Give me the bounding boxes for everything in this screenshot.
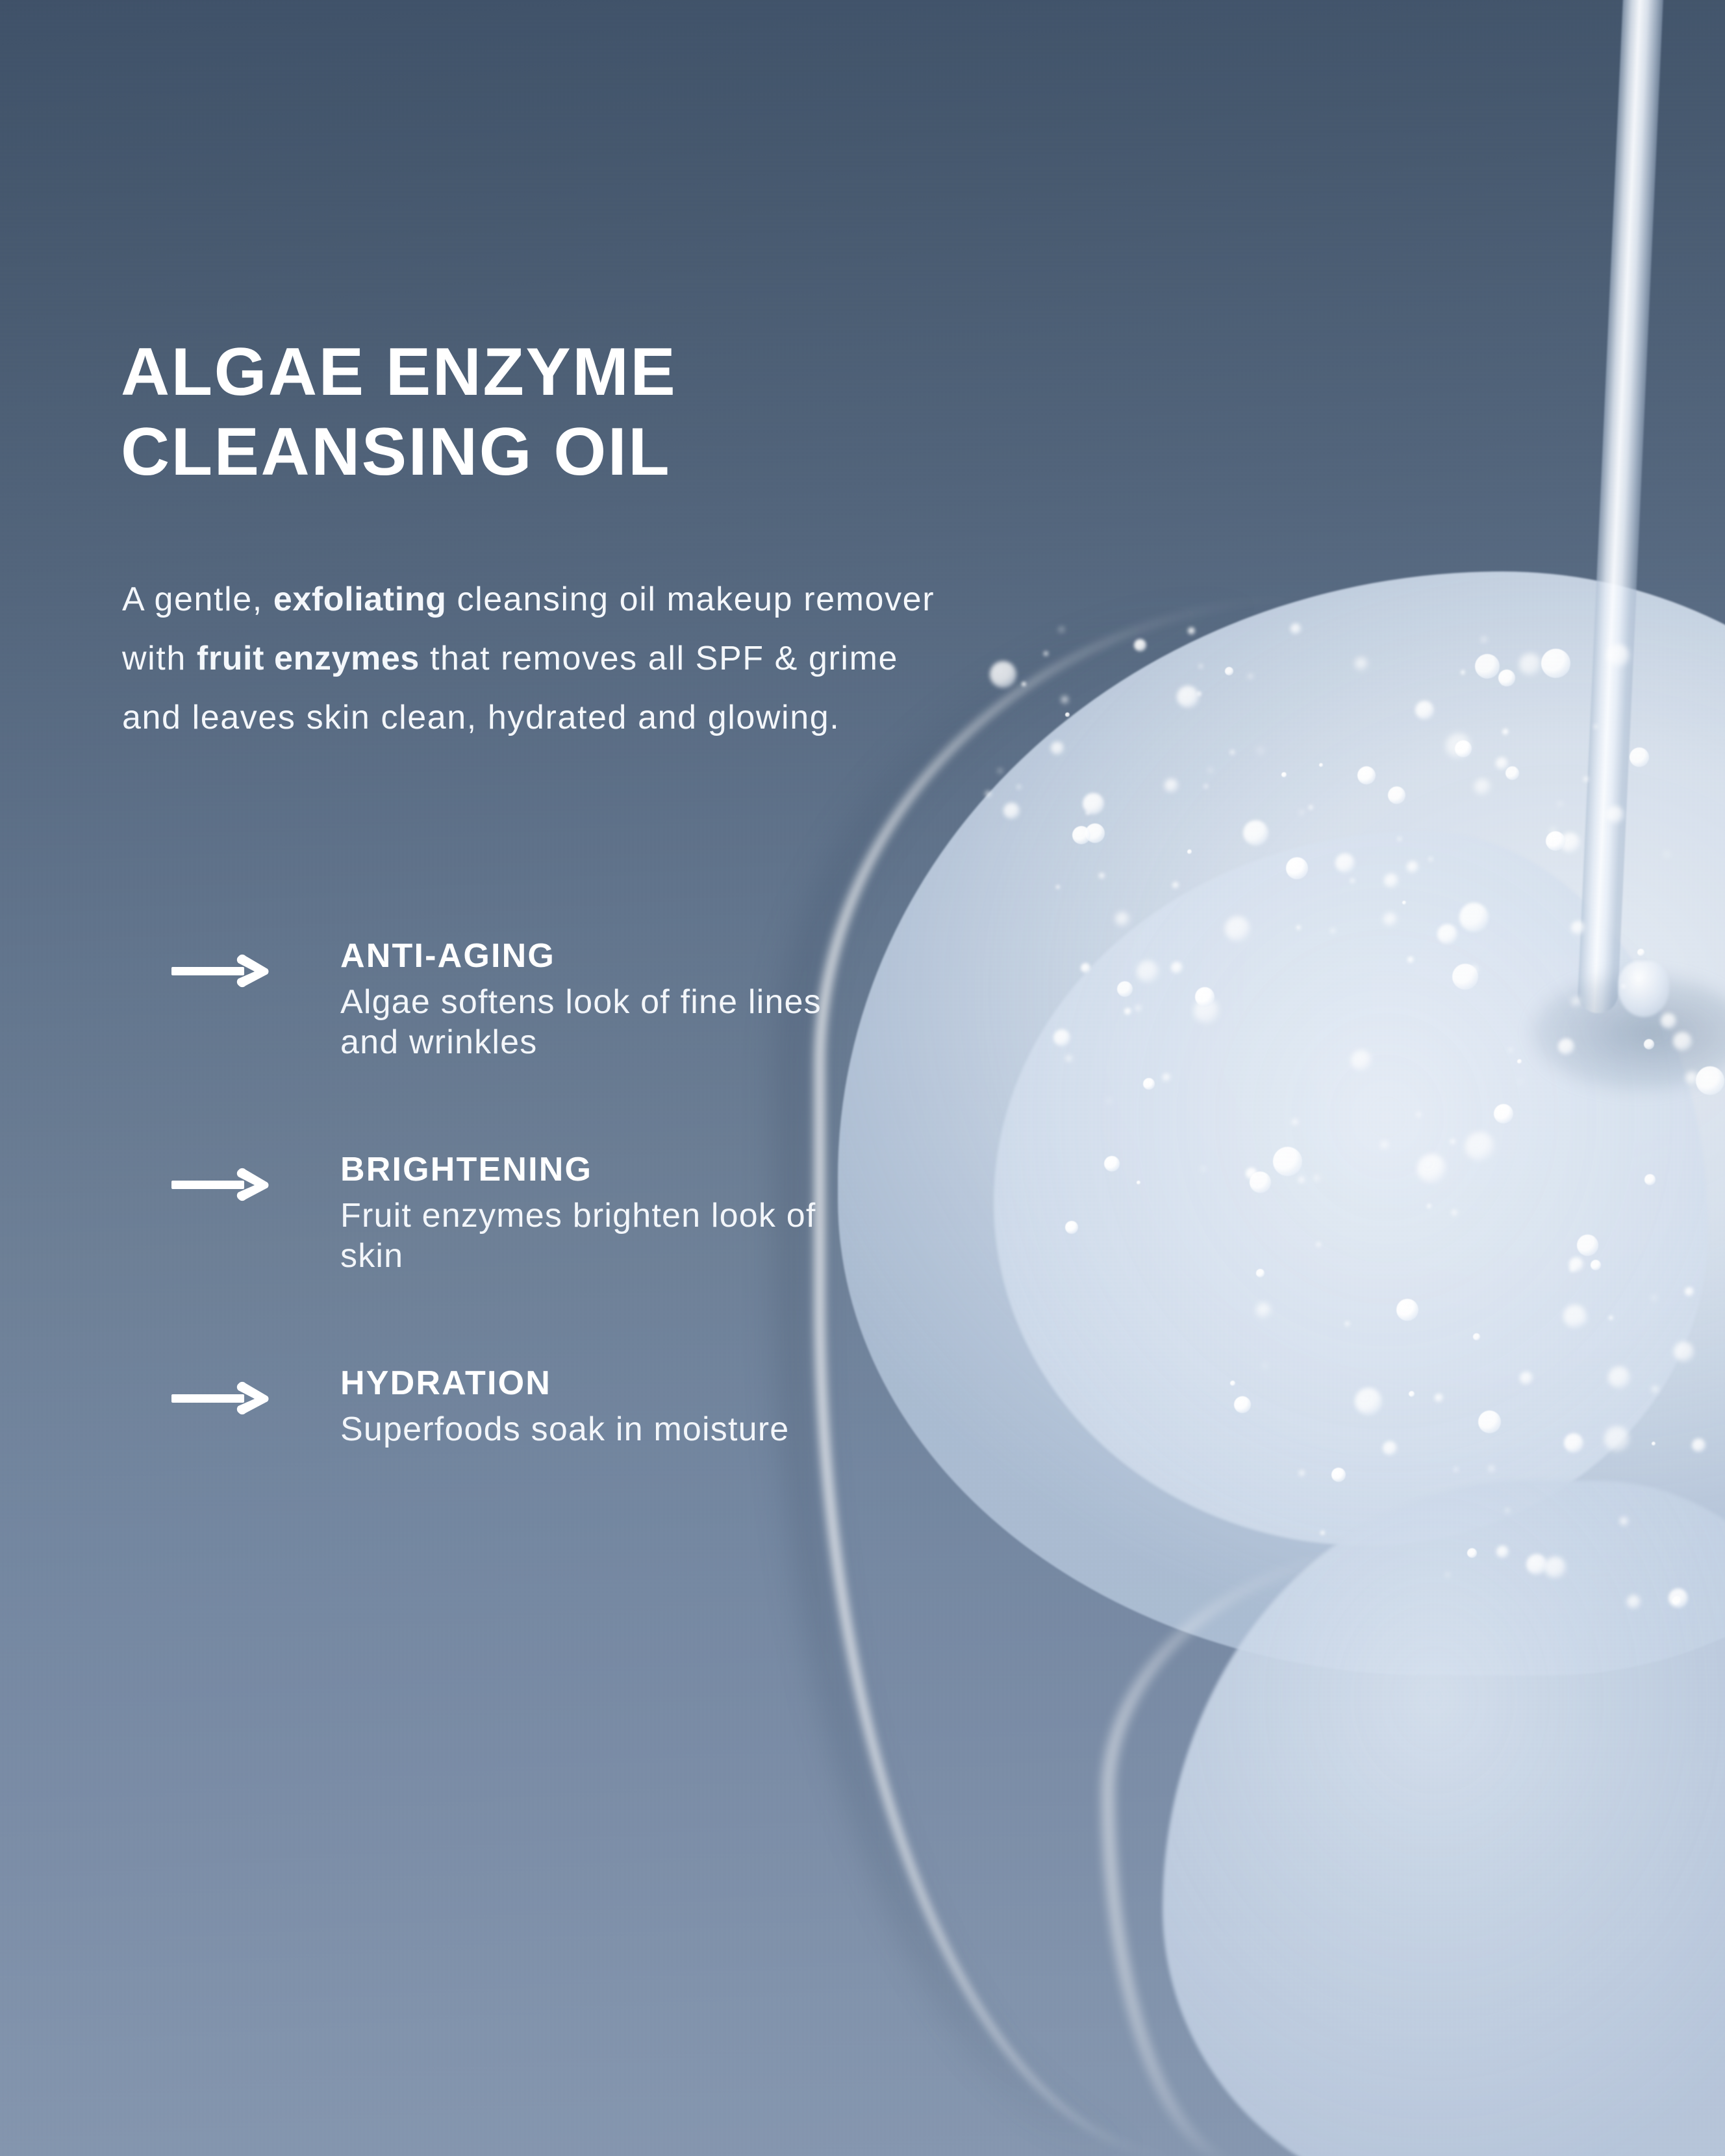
bubble xyxy=(1407,957,1414,963)
bubble xyxy=(1331,929,1335,933)
bubble xyxy=(1505,1509,1509,1512)
product-description: A gentle, exfoliating cleansing oil make… xyxy=(122,570,960,747)
bubble xyxy=(1383,912,1397,926)
benefit-title: HYDRATION xyxy=(340,1366,951,1400)
bubble xyxy=(1692,1438,1706,1452)
bubble xyxy=(1563,1305,1587,1328)
bubble xyxy=(1437,924,1457,944)
bubble xyxy=(1085,823,1105,843)
bubble xyxy=(1429,857,1433,861)
bubble xyxy=(1381,1141,1389,1149)
bubble xyxy=(1498,670,1515,686)
bubble xyxy=(1309,805,1313,810)
bubble xyxy=(1099,873,1105,879)
bubble xyxy=(1469,966,1478,975)
bubble xyxy=(1204,784,1208,788)
bubble xyxy=(1104,1156,1120,1172)
benefit-description: Superfoods soak in moisture xyxy=(340,1409,834,1449)
bubble xyxy=(1452,1210,1457,1216)
bubble xyxy=(1086,811,1090,815)
bubble xyxy=(1066,1055,1072,1062)
bubble xyxy=(1435,1394,1443,1402)
bubble xyxy=(1081,963,1090,973)
arrow-right-icon xyxy=(171,953,270,988)
bubble xyxy=(1560,833,1580,853)
bubble xyxy=(1661,1013,1676,1029)
benefit-item: HYDRATIONSuperfoods soak in moisture xyxy=(171,1366,951,1449)
bubble xyxy=(1357,766,1376,784)
bubble xyxy=(1115,912,1129,926)
bubble xyxy=(1165,779,1178,792)
bubble xyxy=(1195,987,1215,1007)
bubble xyxy=(1520,1372,1533,1385)
product-feature-card: ALGAE ENZYME CLEANSING OIL A gentle, exf… xyxy=(0,0,1725,2156)
bubble xyxy=(1281,772,1287,777)
bubble xyxy=(1059,627,1064,632)
bubble xyxy=(1481,637,1487,642)
bubble xyxy=(1314,1175,1320,1181)
bubble xyxy=(1594,725,1598,729)
bubble xyxy=(1396,1299,1418,1321)
bubble xyxy=(1335,853,1355,873)
bubble xyxy=(1417,1112,1421,1117)
bubble xyxy=(1572,997,1581,1006)
bubble xyxy=(1083,793,1104,814)
bubble xyxy=(1450,1139,1455,1144)
bubble xyxy=(1665,852,1669,857)
bubble xyxy=(1296,925,1301,930)
benefit-item: ANTI-AGINGAlgae softens look of fine lin… xyxy=(171,939,951,1063)
bubble xyxy=(1644,1039,1654,1049)
bubble xyxy=(1065,712,1070,717)
bubble xyxy=(1620,1517,1628,1525)
glass-rod-tip xyxy=(1618,961,1669,1017)
bubble xyxy=(1465,1132,1494,1161)
bubble xyxy=(1668,1588,1688,1608)
bubble xyxy=(1350,879,1355,883)
bubble xyxy=(1489,1466,1494,1472)
bubble xyxy=(1570,1266,1576,1272)
bubble xyxy=(1502,729,1509,735)
bubble xyxy=(1627,1595,1641,1609)
bubble xyxy=(1454,1468,1458,1472)
bubble xyxy=(1188,627,1195,634)
bubble xyxy=(1298,1177,1305,1183)
bubble xyxy=(1637,949,1644,956)
bubble xyxy=(1478,1410,1501,1433)
bubble xyxy=(1544,1557,1566,1578)
bubble xyxy=(1475,654,1500,679)
bubble xyxy=(1230,750,1235,755)
bubble xyxy=(1591,1260,1601,1270)
bubble xyxy=(1065,1221,1078,1234)
bubble xyxy=(1291,623,1301,634)
bubble xyxy=(1409,1391,1415,1397)
bubble xyxy=(1459,903,1489,932)
bubble xyxy=(1225,667,1233,675)
bubble xyxy=(1505,766,1519,780)
bubble xyxy=(1225,916,1250,942)
bubble xyxy=(1256,1269,1265,1277)
bubble xyxy=(1583,777,1589,782)
bubble xyxy=(1248,674,1253,679)
bubble xyxy=(1194,998,1219,1023)
bubble xyxy=(1177,686,1199,708)
bubble xyxy=(1320,1531,1325,1535)
bubble xyxy=(1473,1333,1480,1340)
bubble xyxy=(1143,1078,1155,1090)
bubble xyxy=(1061,696,1068,703)
benefit-description: Fruit enzymes brighten look of skin xyxy=(340,1196,834,1277)
benefit-item: BRIGHTENINGFruit enzymes brighten look o… xyxy=(171,1153,951,1277)
bubble xyxy=(1685,1287,1694,1296)
bubble xyxy=(1053,1029,1070,1046)
benefits-list: ANTI-AGINGAlgae softens look of fine lin… xyxy=(171,939,951,1449)
bubble xyxy=(1518,1080,1522,1084)
bubble xyxy=(1564,1433,1583,1453)
bubble xyxy=(1607,644,1630,667)
gel-meniscus-rim-lower xyxy=(1104,1546,1567,2156)
bubble xyxy=(1355,1388,1382,1415)
bubble xyxy=(1446,733,1471,758)
bubble xyxy=(1558,1038,1574,1055)
bubble xyxy=(1622,984,1626,988)
bubble xyxy=(1384,873,1398,888)
bubble xyxy=(1258,748,1263,753)
bubble xyxy=(1652,1296,1656,1300)
bubble xyxy=(1256,1303,1271,1318)
benefit-title: ANTI-AGING xyxy=(340,939,951,973)
bubble xyxy=(1673,1032,1692,1051)
bubble xyxy=(1546,831,1565,851)
bubble xyxy=(1345,1322,1350,1326)
bubble xyxy=(1199,664,1203,668)
bubble xyxy=(1202,1167,1205,1171)
bubble xyxy=(1230,1381,1235,1386)
rod-contact-shadow xyxy=(1533,974,1725,1091)
bubble xyxy=(1474,779,1491,795)
bubble xyxy=(1398,837,1402,841)
bubble xyxy=(1072,826,1090,844)
benefit-description: Algae softens look of fine lines and wri… xyxy=(340,982,834,1063)
bubble xyxy=(1606,806,1624,823)
bubble xyxy=(1407,861,1418,873)
bubble xyxy=(1117,981,1133,997)
gel-pool-lobe xyxy=(994,831,1708,1546)
bubble xyxy=(1286,857,1308,879)
bubble xyxy=(1056,885,1060,889)
bubble xyxy=(1674,1342,1694,1362)
bubble xyxy=(1292,1119,1298,1125)
bubble xyxy=(1209,768,1213,772)
gel-pool-stem xyxy=(1163,1481,1725,2156)
product-title: ALGAE ENZYME CLEANSING OIL xyxy=(121,332,933,492)
bubble xyxy=(1134,639,1146,651)
bubble xyxy=(1402,901,1406,905)
bubble xyxy=(1388,786,1405,804)
bubble xyxy=(1644,1174,1656,1185)
bubble xyxy=(1519,653,1541,675)
bubble xyxy=(1608,1366,1630,1388)
benefit-title: BRIGHTENING xyxy=(340,1153,951,1186)
bubble xyxy=(1331,1468,1346,1482)
bubble xyxy=(1494,1104,1513,1123)
bubble xyxy=(1496,757,1508,770)
bubble xyxy=(1558,802,1562,806)
bubble xyxy=(1517,1059,1522,1064)
bubble xyxy=(1461,670,1465,675)
bubble xyxy=(998,769,1002,773)
bubble xyxy=(1003,803,1020,819)
bubble xyxy=(1234,1396,1251,1413)
bubble xyxy=(1685,1072,1698,1084)
bubble xyxy=(1135,1005,1141,1011)
bubble xyxy=(1604,1426,1630,1451)
bubble xyxy=(1299,1470,1305,1476)
bubble xyxy=(1017,785,1021,789)
bubble xyxy=(1630,747,1649,767)
bubble xyxy=(1273,1147,1302,1176)
bubble xyxy=(1455,740,1472,757)
bubble xyxy=(1197,692,1202,696)
bubble xyxy=(1051,742,1064,755)
arrow-right-icon xyxy=(171,1167,270,1202)
text-content: ALGAE ENZYME CLEANSING OIL A gentle, exf… xyxy=(121,0,998,2156)
bubble xyxy=(1446,1573,1450,1577)
glass-dropper-rod xyxy=(1577,0,1665,1014)
bubble xyxy=(1163,1073,1170,1081)
bubble xyxy=(1427,1204,1431,1209)
bubble xyxy=(1652,1386,1659,1393)
bubble xyxy=(1550,828,1556,834)
bubble xyxy=(1526,1554,1547,1575)
bubble xyxy=(1417,1154,1446,1183)
bubble xyxy=(1609,1316,1613,1320)
bubble xyxy=(1243,820,1268,846)
bubble xyxy=(1415,701,1434,720)
bubble xyxy=(1300,810,1303,814)
bubble xyxy=(1250,1172,1271,1193)
bubble xyxy=(1187,849,1192,854)
bubble xyxy=(1571,921,1585,934)
bubble xyxy=(1171,962,1183,973)
bubble xyxy=(1496,1546,1509,1558)
bubble xyxy=(1246,1168,1257,1179)
bubble xyxy=(1022,682,1026,686)
bubble xyxy=(1696,1066,1724,1095)
bubble xyxy=(1509,1048,1513,1052)
bubble xyxy=(1124,1008,1131,1015)
bubble xyxy=(1355,657,1368,670)
bubble xyxy=(1044,651,1048,656)
bubble xyxy=(1569,1257,1583,1272)
bubble xyxy=(1541,649,1570,678)
bubble xyxy=(1577,1235,1598,1256)
bubble xyxy=(1452,964,1478,990)
bubble xyxy=(1137,960,1159,983)
bubble xyxy=(1316,1242,1321,1247)
bubble xyxy=(1580,1316,1586,1322)
arrow-right-icon xyxy=(171,1381,270,1416)
bubble xyxy=(1672,1596,1681,1605)
bubble xyxy=(1107,1099,1111,1103)
bubble xyxy=(1263,1364,1267,1368)
bubble xyxy=(1137,1181,1140,1185)
bubble xyxy=(1319,763,1323,767)
bubble xyxy=(1652,1442,1656,1446)
bubble xyxy=(1467,1548,1477,1558)
bubble xyxy=(1172,882,1179,888)
bubble xyxy=(1351,1050,1372,1071)
bubble xyxy=(1383,1441,1397,1455)
